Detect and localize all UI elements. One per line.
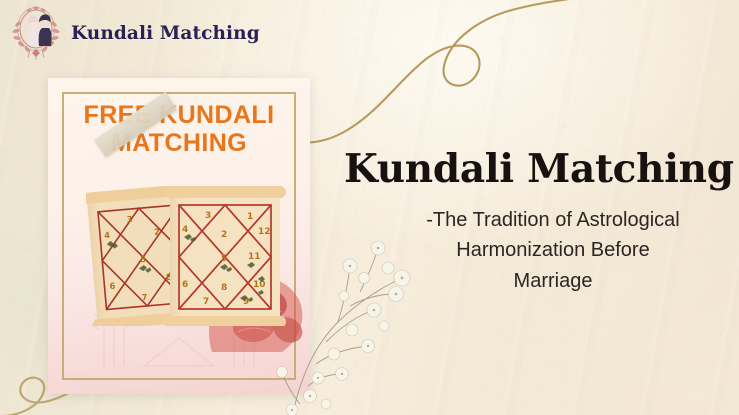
svg-text:5: 5	[221, 254, 227, 264]
svg-text:6: 6	[182, 280, 188, 290]
free-kundali-matching-card[interactable]: FREE KUNDALI MATCHING	[48, 78, 310, 394]
subtitle-line-1: -The Tradition of Astrological	[370, 205, 736, 235]
couple-in-ornate-frame-icon	[8, 4, 64, 62]
gold-swirl-line-icon	[296, 0, 739, 154]
card-title: FREE KUNDALI MATCHING	[48, 102, 310, 157]
brand-logo[interactable]: Kundali Matching	[8, 4, 260, 62]
svg-text:6: 6	[109, 282, 116, 292]
svg-text:1: 1	[247, 212, 253, 222]
svg-text:4: 4	[104, 231, 111, 241]
subtitle-line-2: Harmonization Before	[370, 235, 736, 265]
svg-text:12: 12	[258, 227, 271, 237]
svg-text:4: 4	[182, 225, 188, 235]
svg-text:2: 2	[221, 230, 227, 240]
svg-text:3: 3	[126, 215, 133, 225]
right-kundali-scroll: 123 456 78 910 1112	[164, 186, 286, 326]
svg-text:7: 7	[141, 293, 148, 303]
poster-canvas: Kundali Matching FREE KUNDALI MATCHING	[0, 0, 739, 415]
svg-text:8: 8	[221, 283, 227, 293]
page-subtitle: -The Tradition of Astrological Harmoniza…	[370, 205, 736, 296]
svg-text:2: 2	[154, 228, 161, 238]
svg-text:11: 11	[248, 252, 261, 262]
svg-text:7: 7	[203, 297, 209, 307]
brand-name: Kundali Matching	[71, 23, 260, 44]
svg-text:5: 5	[140, 255, 147, 265]
page-title: Kundali Matching	[344, 150, 734, 189]
kundali-scrolls: 123 456 78	[86, 186, 286, 326]
svg-text:3: 3	[205, 211, 211, 221]
subtitle-line-3: Marriage	[370, 266, 736, 296]
svg-text:10: 10	[253, 280, 266, 290]
card-title-line-1: FREE KUNDALI	[48, 102, 310, 130]
card-title-line-2: MATCHING	[48, 130, 310, 158]
